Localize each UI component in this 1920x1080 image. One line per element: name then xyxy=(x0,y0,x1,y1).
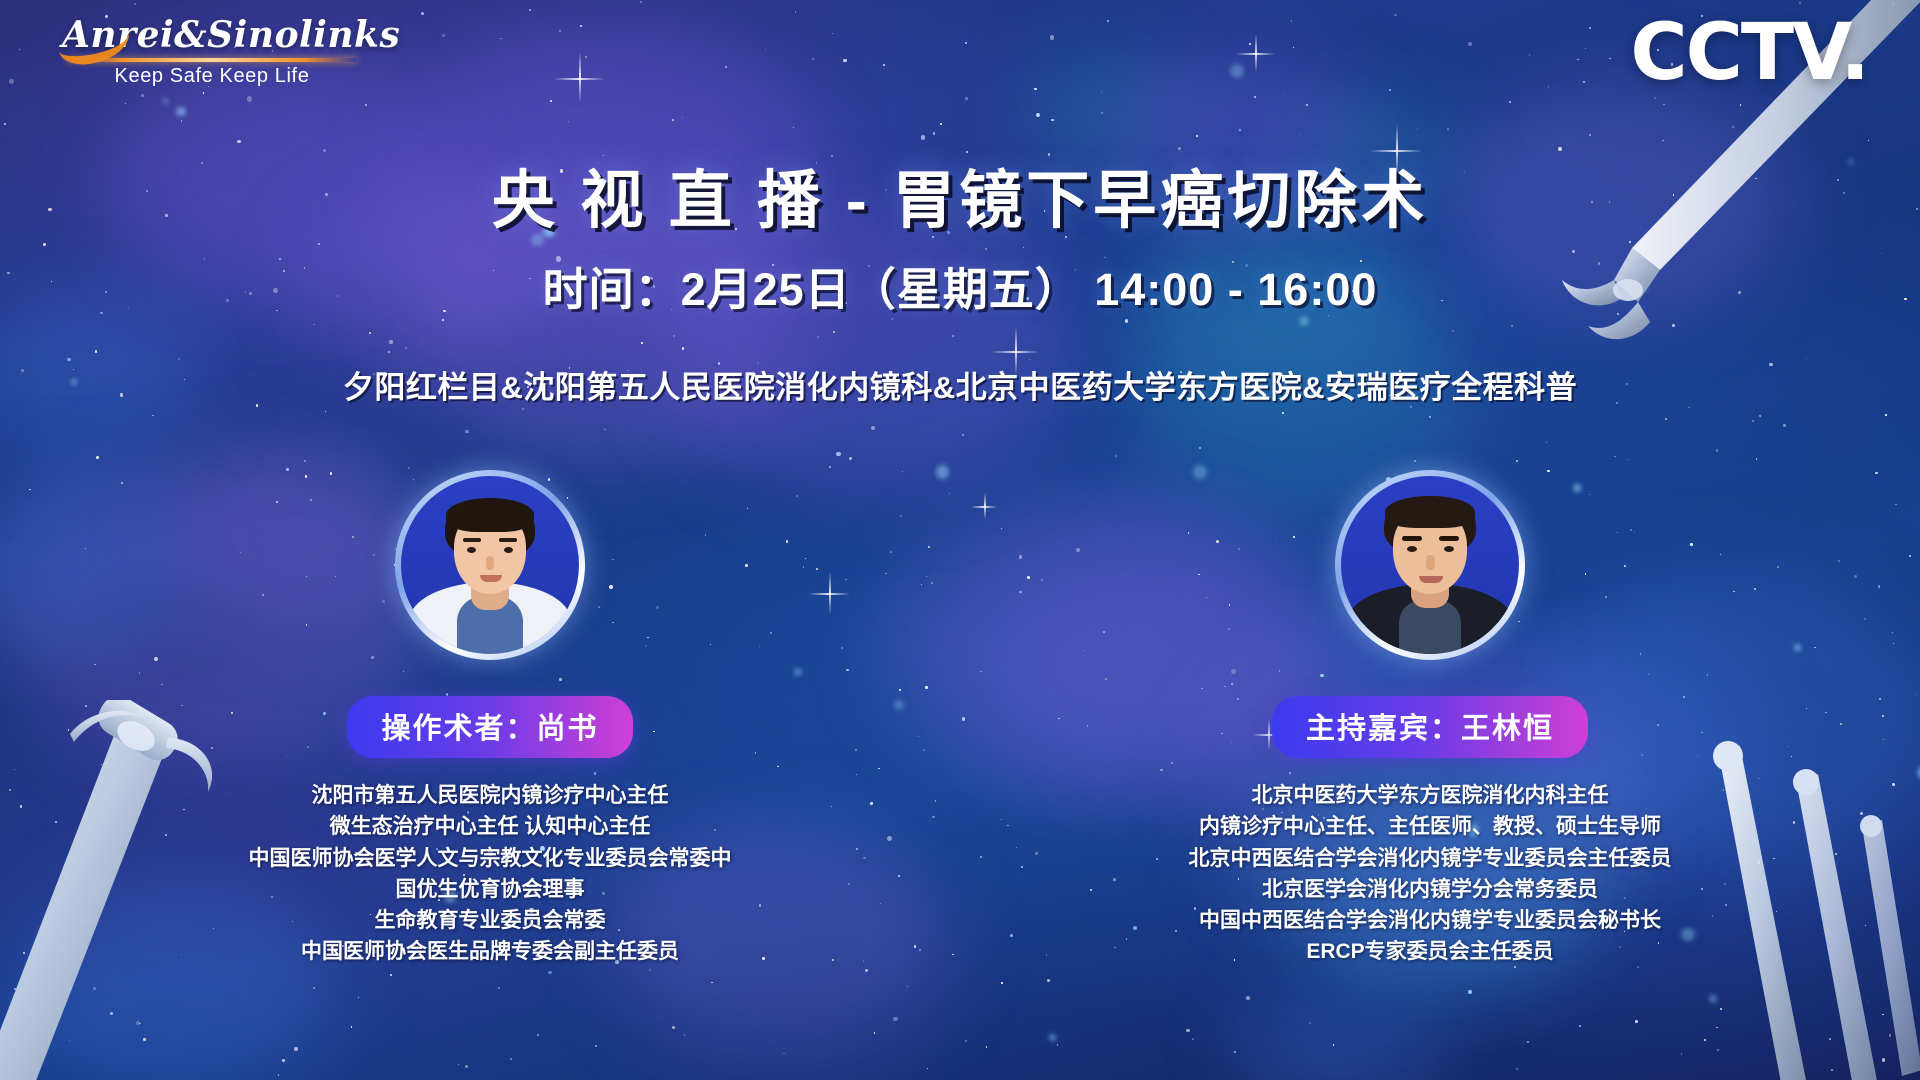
cctv-logo: CCTV. xyxy=(1630,14,1868,92)
credential-line: 中国中西医结合学会消化内镜学专业委员会秘书长 xyxy=(1170,905,1690,936)
credential-line: 北京中医药大学东方医院消化内科主任 xyxy=(1170,780,1690,811)
person-role-badge: 操作术者：尚书 xyxy=(347,696,632,758)
poster-canvas: Anrei&Sinolinks Keep Safe Keep Life CCTV… xyxy=(0,0,1920,1080)
credential-line: 国优生优育协会理事 xyxy=(230,874,750,905)
credential-line: 微生态治疗中心主任 认知中心主任 xyxy=(230,811,750,842)
avatar xyxy=(401,476,579,654)
credential-line: 北京中西医结合学会消化内镜学专业委员会主任委员 xyxy=(1170,843,1690,874)
credential-line: 北京医学会消化内镜学分会常务委员 xyxy=(1170,874,1690,905)
brand-divider xyxy=(67,58,357,62)
person-role-badge: 主持嘉宾：王林恒 xyxy=(1272,696,1588,758)
credential-line: 沈阳市第五人民医院内镜诊疗中心主任 xyxy=(230,780,750,811)
page-title: 央 视 直 播 - 胃镜下早癌切除术 xyxy=(0,150,1920,241)
person-card-operator: 操作术者：尚书 沈阳市第五人民医院内镜诊疗中心主任 微生态治疗中心主任 认知中心… xyxy=(230,470,750,968)
event-organizers: 夕阳红栏目&沈阳第五人民医院消化内镜科&北京中医药大学东方医院&安瑞医疗全程科普 xyxy=(0,362,1920,407)
avatar-ring xyxy=(1335,470,1525,660)
person-card-host: 主持嘉宾：王林恒 北京中医药大学东方医院消化内科主任 内镜诊疗中心主任、主任医师… xyxy=(1170,470,1690,968)
brand-logo-text: Anrei&Sinolinks xyxy=(62,14,362,56)
credential-line: 内镜诊疗中心主任、主任医师、教授、硕士生导师 xyxy=(1170,811,1690,842)
event-time: 时间：2月25日（星期五） 14:00 - 16:00 xyxy=(0,253,1920,318)
avatar-ring xyxy=(395,470,585,660)
credential-line: ERCP专家委员会主任委员 xyxy=(1170,936,1690,967)
brand-tagline: Keep Safe Keep Life xyxy=(62,65,362,88)
person-credentials: 北京中医药大学东方医院消化内科主任 内镜诊疗中心主任、主任医师、教授、硕士生导师… xyxy=(1170,780,1690,968)
brand-logo: Anrei&Sinolinks Keep Safe Keep Life xyxy=(62,14,362,88)
credential-line: 生命教育专业委员会常委 xyxy=(230,905,750,936)
credential-line: 中国医师协会医生品牌专委会副主任委员 xyxy=(230,936,750,967)
person-credentials: 沈阳市第五人民医院内镜诊疗中心主任 微生态治疗中心主任 认知中心主任 中国医师协… xyxy=(230,780,750,968)
credential-line: 中国医师协会医学人文与宗教文化专业委员会常委中 xyxy=(230,843,750,874)
avatar xyxy=(1341,476,1519,654)
